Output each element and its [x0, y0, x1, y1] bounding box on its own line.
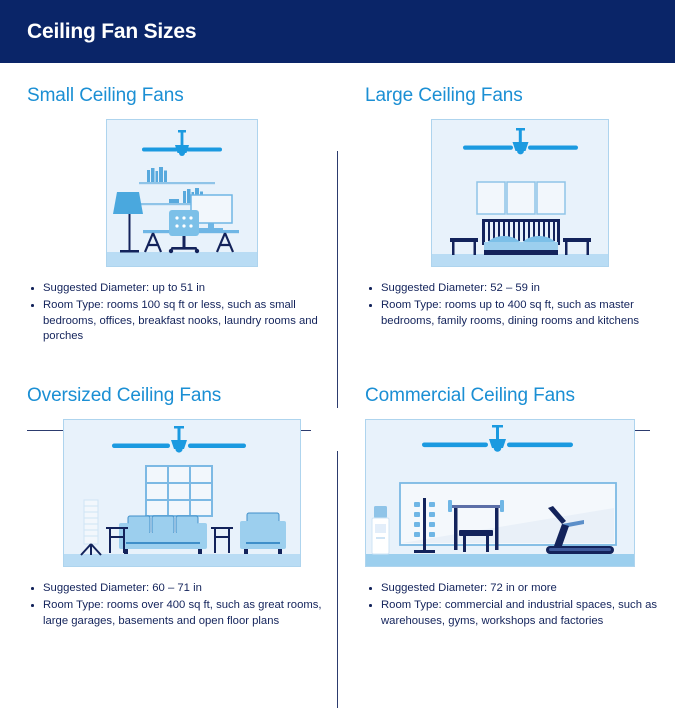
list-item: Room Type: rooms over 400 sq ft, such as… [27, 598, 337, 629]
list-item: Suggested Diameter: 60 – 71 in [27, 581, 337, 596]
armchair [240, 513, 286, 554]
side-table-left [106, 528, 128, 553]
bedroom-room-illustration [431, 119, 609, 267]
ceiling-fan-icon [142, 130, 222, 156]
ceiling-fan-icon [112, 426, 246, 453]
sofa [119, 516, 207, 554]
section-title-small: Small Ceiling Fans [27, 85, 337, 107]
living-room-illustration [63, 419, 301, 567]
tripod-floor-lamp [81, 500, 101, 555]
window [146, 466, 212, 516]
list-item: Suggested Diameter: 52 – 59 in [365, 281, 675, 296]
section-oversized-ceiling-fans: Oversized Ceiling Fans [27, 385, 337, 631]
section-large-ceiling-fans: Large Ceiling Fans [365, 85, 675, 331]
section-small-ceiling-fans: Small Ceiling Fans [27, 85, 337, 347]
nightstand-right [563, 238, 591, 255]
ceiling-fan-icon [463, 128, 578, 154]
bullet-list-commercial: Suggested Diameter: 72 in or more Room T… [365, 581, 675, 629]
bullet-list-oversized: Suggested Diameter: 60 – 71 in Room Type… [27, 581, 337, 629]
bullet-list-small: Suggested Diameter: up to 51 in Room Typ… [27, 281, 337, 345]
list-item: Suggested Diameter: 72 in or more [365, 581, 675, 596]
section-title-large: Large Ceiling Fans [365, 85, 675, 107]
nightstand-left [450, 238, 478, 255]
side-table-right [211, 528, 233, 553]
page-header: Ceiling Fan Sizes [0, 0, 675, 63]
gym-room-illustration [365, 419, 635, 567]
water-cooler [372, 506, 389, 554]
list-item: Suggested Diameter: up to 51 in [27, 281, 337, 296]
bullet-list-large: Suggested Diameter: 52 – 59 in Room Type… [365, 281, 675, 329]
vertical-divider-top [337, 151, 338, 408]
sections-grid: Small Ceiling Fans [0, 63, 675, 675]
bed [482, 219, 560, 255]
home-office-room-illustration [106, 119, 258, 267]
section-title-oversized: Oversized Ceiling Fans [27, 385, 337, 407]
office-chair [169, 210, 199, 253]
infographic-page: Ceiling Fan Sizes Small Ceiling Fans [0, 0, 675, 675]
ceiling-fan-icon [422, 425, 573, 452]
section-commercial-ceiling-fans: Commercial Ceiling Fans [365, 385, 675, 631]
page-title: Ceiling Fan Sizes [27, 20, 196, 44]
list-item: Room Type: commercial and industrial spa… [365, 598, 675, 629]
section-title-commercial: Commercial Ceiling Fans [365, 385, 675, 407]
vertical-divider-bottom [337, 451, 338, 708]
list-item: Room Type: rooms up to 400 sq ft, such a… [365, 298, 675, 329]
list-item: Room Type: rooms 100 sq ft or less, such… [27, 298, 337, 344]
wall-art-frames [477, 182, 565, 214]
floor-lamp [113, 192, 143, 253]
